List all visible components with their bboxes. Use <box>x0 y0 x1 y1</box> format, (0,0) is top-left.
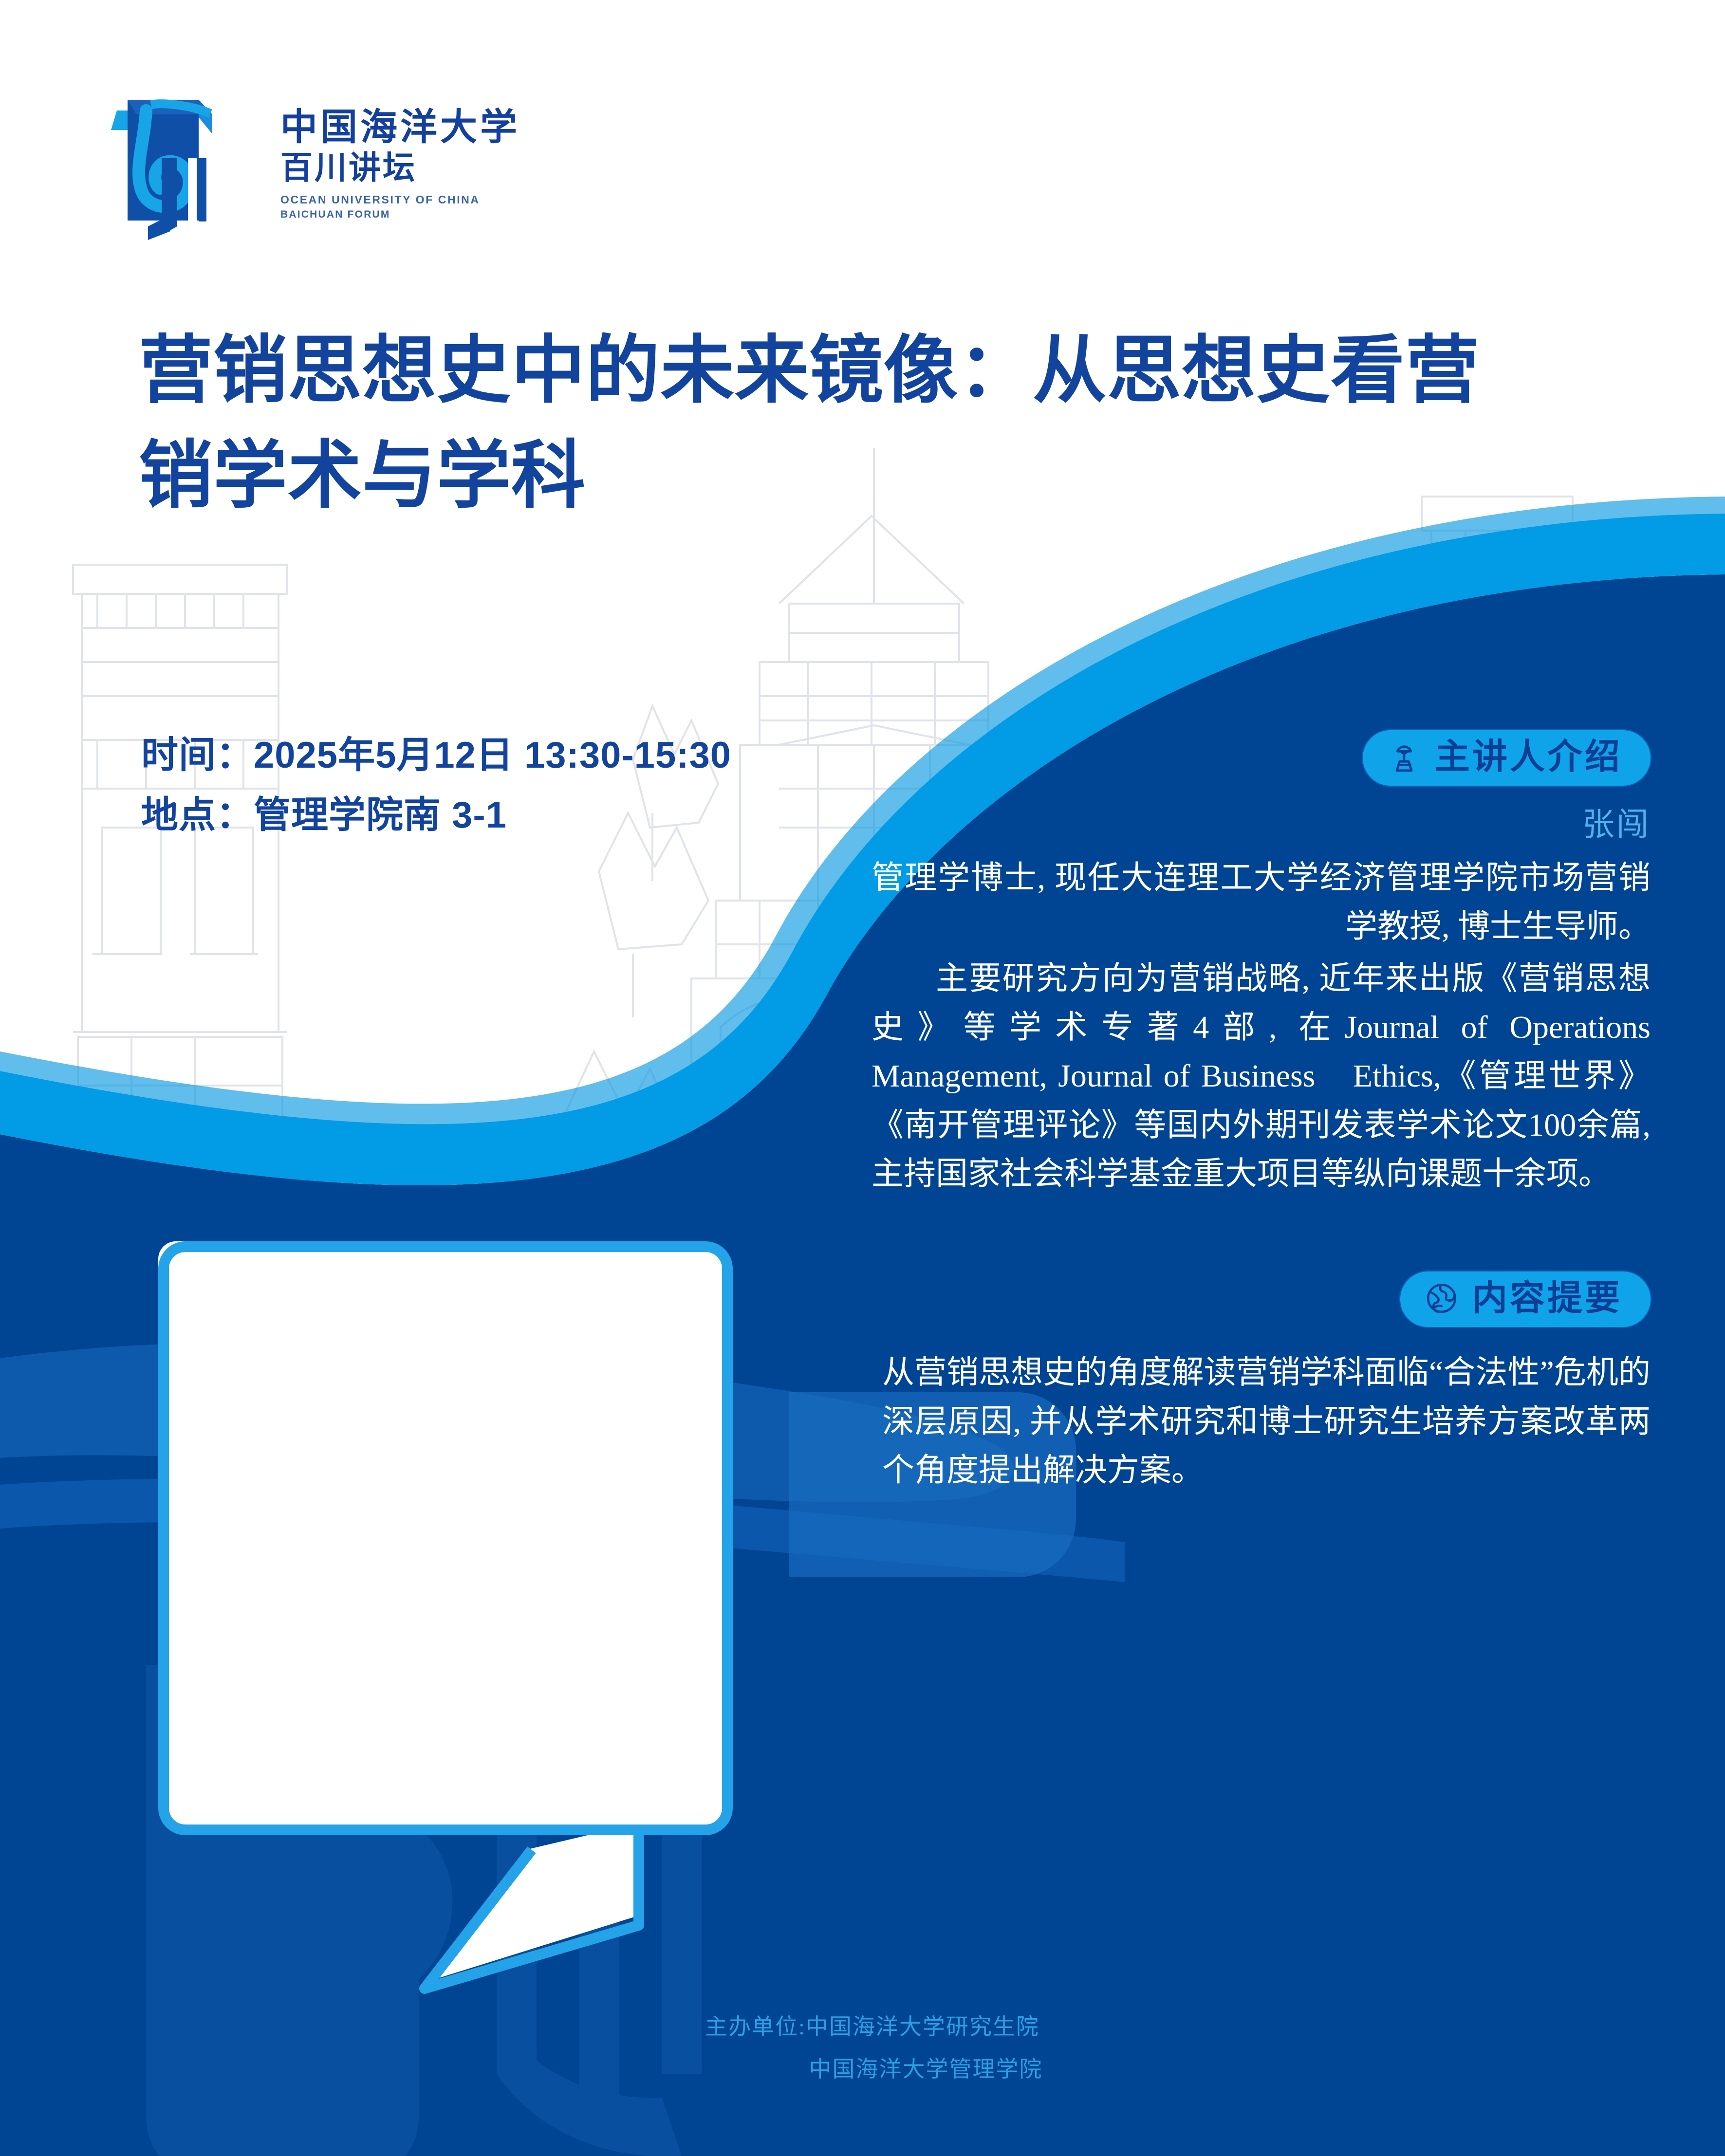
speaker-section-badge: 主讲人介绍 <box>1363 730 1651 786</box>
speaker-badge-row: 主讲人介绍 <box>872 730 1651 786</box>
logo-cn-line1: 中国海洋大学 <box>280 109 520 147</box>
globe-icon <box>1424 1280 1460 1316</box>
footer-organizer-line2: 中国海洋大学管理学院 <box>0 2048 1725 2090</box>
footer-organizer-line1: 主办单位:中国海洋大学研究生院 <box>0 2006 1725 2048</box>
summary-badge-row: 内容提要 <box>872 1271 1651 1327</box>
speaker-bio-paragraph-2: 主要研究方向为营销战略, 近年来出版《营销思想史》等学术专著4部, 在Journ… <box>872 955 1651 1199</box>
logo-cn-line2: 百川讲坛 <box>280 149 520 186</box>
speaker-bio-paragraph-1: 管理学博士, 现任大连理工大学经济管理学院市场营销学教授, 博士生导师。 <box>872 854 1651 952</box>
poster-root: 中国海洋大学 百川讲坛 OCEAN UNIVERSITY OF CHINA BA… <box>0 0 1725 2156</box>
logo-en-line1: OCEAN UNIVERSITY OF CHINA <box>280 193 520 206</box>
poster-title: 营销思想史中的未来镜像：从思想史看营销学术与学科 <box>139 319 1551 529</box>
summary-text: 从营销思想史的角度解读营销学科面临“合法性”危机的深层原因, 并从学术研究和博士… <box>872 1348 1651 1495</box>
brand-logo: 中国海洋大学 百川讲坛 OCEAN UNIVERSITY OF CHINA BA… <box>97 85 555 241</box>
speaker-badge-label: 主讲人介绍 <box>1435 739 1622 774</box>
summary-section-badge: 内容提要 <box>1400 1271 1651 1327</box>
speaker-person-icon <box>1386 739 1422 775</box>
right-content-column: 主讲人介绍 张闯 管理学博士, 现任大连理工大学经济管理学院市场营销学教授, 博… <box>872 730 1651 1495</box>
portrait-bubble <box>146 1236 750 1928</box>
speaker-name: 张闯 <box>872 798 1651 845</box>
summary-badge-label: 内容提要 <box>1472 1281 1622 1316</box>
poster-footer: 主办单位:中国海洋大学研究生院 中国海洋大学管理学院 <box>0 2006 1725 2091</box>
baichuan-forum-logo-mark <box>97 85 258 241</box>
logo-en-line2: BAICHUAN FORUM <box>280 209 520 221</box>
summary-section: 内容提要 从营销思想史的角度解读营销学科面临“合法性”危机的深层原因, 并从学术… <box>872 1271 1651 1495</box>
portrait-frame <box>158 1241 733 1835</box>
